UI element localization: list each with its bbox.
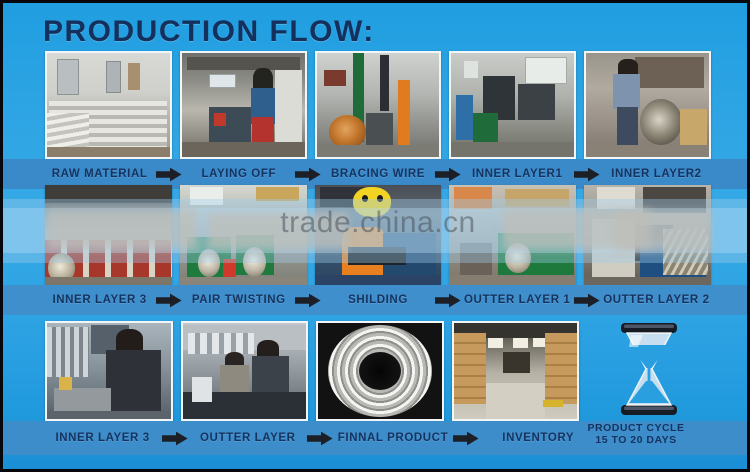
step-label: OUTTER LAYER 2 xyxy=(603,294,709,306)
step-label: OUTTER LAYER xyxy=(200,432,296,444)
photo-strip-row-2 xyxy=(3,185,750,285)
arrow-icon xyxy=(435,167,461,182)
photo-green-twisting-machines xyxy=(180,185,307,285)
arrow-icon xyxy=(156,293,182,308)
step-label: INNER LAYER 3 xyxy=(52,294,146,306)
arrow-icon xyxy=(295,293,321,308)
photo-workers-at-overhead-machine xyxy=(181,321,309,421)
step-bracing-wire: BRACING WIRE xyxy=(323,168,432,180)
arrow-icon xyxy=(574,293,600,308)
photo-worker-at-payoff-machine xyxy=(180,51,307,159)
step-pair-twisting: PAIR TWISTING xyxy=(184,294,293,306)
photo-strip-row-3 xyxy=(3,321,750,421)
hourglass-icon xyxy=(613,321,685,422)
step-outter-layer-2: OUTTER LAYER 2 xyxy=(602,294,711,306)
photo-stranding-machine-line xyxy=(449,51,576,159)
step-label: BRACING WIRE xyxy=(331,168,425,180)
step-inner-layer-3-final: INNER LAYER 3 xyxy=(45,432,160,444)
photo-worker-orange-uniform-yellow-machine xyxy=(315,185,442,285)
photo-warehouse-wooden-crates xyxy=(452,321,580,421)
step-label: LAYING OFF xyxy=(202,168,277,180)
step-inner-layer-3: INNER LAYER 3 xyxy=(45,294,154,306)
flow-row-1: RAW MATERIAL LAYING OFF BRACING WIRE INN… xyxy=(3,51,750,189)
arrow-icon xyxy=(162,431,188,446)
label-bar-row-2: INNER LAYER 3 PAIR TWISTING SHILDING OUT… xyxy=(3,285,750,315)
photo-cable-extruder-machine xyxy=(584,185,711,285)
photo-worker-rolling-cable-drum xyxy=(584,51,711,159)
step-laying-off: LAYING OFF xyxy=(184,168,293,180)
production-flow-poster: PRODUCTION FLOW: xyxy=(0,0,750,472)
arrow-icon xyxy=(574,167,600,182)
step-label: PAIR TWISTING xyxy=(192,294,286,306)
step-label: OUTTER LAYER 1 xyxy=(464,294,570,306)
flow-row-2: INNER LAYER 3 PAIR TWISTING SHILDING OUT… xyxy=(3,185,750,315)
step-outter-layer: OUTTER LAYER xyxy=(190,432,305,444)
step-label: RAW MATERIAL xyxy=(52,168,148,180)
hourglass-cell xyxy=(587,321,711,421)
photo-warehouse-stacked-sacks xyxy=(45,51,172,159)
photo-green-drum-extrusion-line xyxy=(449,185,576,285)
product-cycle-line-2: 15 TO 20 DAYS xyxy=(561,435,711,447)
flow-row-3: INNER LAYER 3 OUTTER LAYER FINNAL PRODUC… xyxy=(3,321,750,455)
arrow-icon xyxy=(453,431,479,446)
step-label: INNER LAYER1 xyxy=(472,168,563,180)
step-label: SHILDING xyxy=(348,294,408,306)
step-raw-material: RAW MATERIAL xyxy=(45,168,154,180)
label-bar-row-3: INNER LAYER 3 OUTTER LAYER FINNAL PRODUC… xyxy=(3,421,750,455)
step-outter-layer-1: OUTTER LAYER 1 xyxy=(463,294,572,306)
step-shilding: SHILDING xyxy=(323,294,432,306)
photo-red-cable-drums-warehouse xyxy=(45,185,172,285)
product-cycle-line-1: PRODUCT CYCLE xyxy=(561,423,711,435)
photo-strip-row-1 xyxy=(3,51,750,159)
photo-coiled-white-cable xyxy=(316,321,444,421)
arrow-icon xyxy=(295,167,321,182)
step-finnal-product: FINNAL PRODUCT xyxy=(335,432,450,444)
photo-worker-inspecting-control-panel xyxy=(45,321,173,421)
arrow-icon xyxy=(435,293,461,308)
step-inner-layer1: INNER LAYER1 xyxy=(463,168,572,180)
product-cycle-text: PRODUCT CYCLE 15 TO 20 DAYS xyxy=(561,423,711,447)
step-label: INNER LAYER 3 xyxy=(55,432,149,444)
arrow-icon xyxy=(156,167,182,182)
step-label: INNER LAYER2 xyxy=(611,168,702,180)
step-inner-layer2: INNER LAYER2 xyxy=(602,168,711,180)
photo-copper-wire-spool-machine xyxy=(315,51,442,159)
step-label: FINNAL PRODUCT xyxy=(338,432,448,444)
page-title: PRODUCTION FLOW: xyxy=(43,15,375,49)
arrow-icon xyxy=(307,431,333,446)
